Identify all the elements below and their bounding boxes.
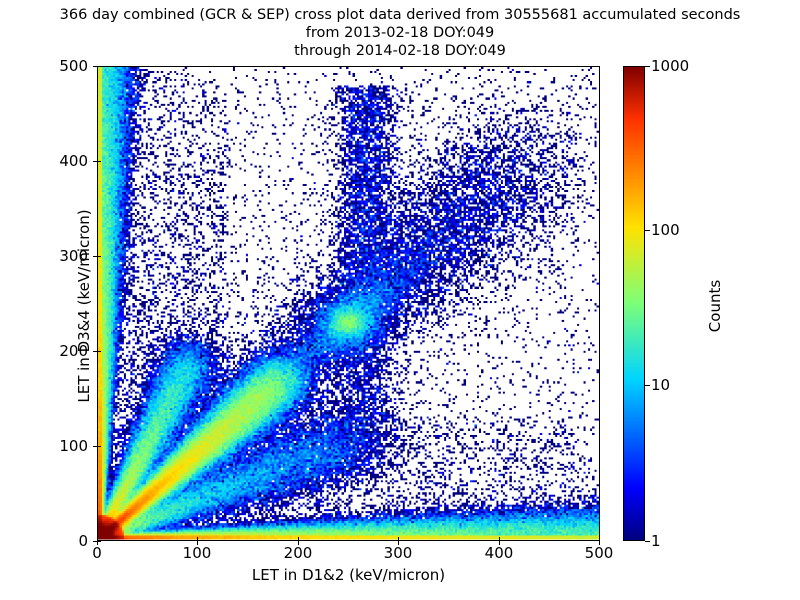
y-tick-inner-0 bbox=[97, 541, 101, 542]
x-tick-inner-400 bbox=[499, 537, 500, 541]
y-tick-inner-300 bbox=[97, 256, 101, 257]
y-tick-inner-400 bbox=[97, 161, 101, 162]
colorbar-ticklabel-1000: 1000 bbox=[651, 58, 689, 75]
y-tick-inner-200 bbox=[97, 351, 101, 352]
x-ticklabel-300: 300 bbox=[363, 545, 433, 562]
x-ticklabel-200: 200 bbox=[263, 545, 333, 562]
density-scatter-plot bbox=[98, 67, 599, 540]
figure-canvas: 366 day combined (GCR & SEP) cross plot … bbox=[0, 0, 800, 600]
colorbar-label: Counts bbox=[706, 196, 724, 416]
colorbar-ticklabel-10: 10 bbox=[651, 377, 670, 394]
y-tick-inner-500 bbox=[97, 66, 101, 67]
x-ticklabel-400: 400 bbox=[464, 545, 534, 562]
colorbar-gradient bbox=[624, 67, 644, 540]
x-ticklabel-500: 500 bbox=[564, 545, 634, 562]
colorbar-ticklabel-100: 100 bbox=[651, 222, 680, 239]
colorbar-tick-100 bbox=[645, 230, 650, 231]
chart-title-line-1: 366 day combined (GCR & SEP) cross plot … bbox=[0, 6, 800, 24]
colorbar-ticklabel-1: 1 bbox=[651, 533, 661, 550]
plot-area bbox=[97, 66, 600, 541]
colorbar bbox=[623, 66, 645, 541]
x-tick-inner-500 bbox=[599, 537, 600, 541]
y-axis-label: LET in D3&4 (keV/micron) bbox=[75, 96, 93, 516]
colorbar-tick-1 bbox=[645, 541, 650, 542]
y-ticklabel-0: 0 bbox=[28, 533, 88, 550]
x-axis-label: LET in D1&2 (keV/micron) bbox=[97, 566, 600, 584]
x-tick-inner-200 bbox=[298, 537, 299, 541]
x-ticklabel-100: 100 bbox=[162, 545, 232, 562]
colorbar-tick-10 bbox=[645, 385, 650, 386]
y-ticklabel-500: 500 bbox=[28, 58, 88, 75]
y-tick-inner-100 bbox=[97, 446, 101, 447]
chart-title: 366 day combined (GCR & SEP) cross plot … bbox=[0, 6, 800, 60]
x-tick-inner-100 bbox=[197, 537, 198, 541]
x-tick-inner-300 bbox=[398, 537, 399, 541]
chart-title-line-2: from 2013-02-18 DOY:049 bbox=[0, 24, 800, 42]
colorbar-tick-1000 bbox=[645, 66, 650, 67]
